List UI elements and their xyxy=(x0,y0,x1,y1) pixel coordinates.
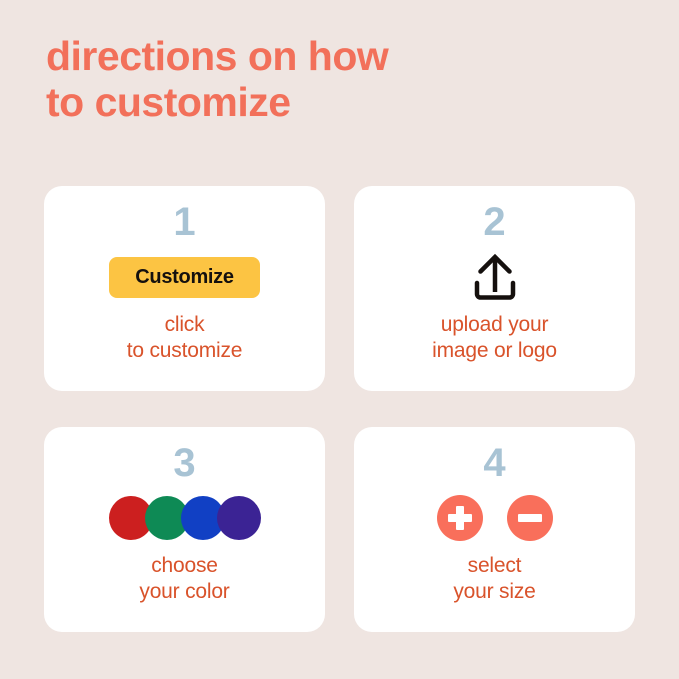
step-visual-1: Customize xyxy=(109,246,259,308)
step-number-2: 2 xyxy=(483,200,505,244)
minus-icon-bar xyxy=(518,514,542,522)
step-card-2: 2 upload your image or logo xyxy=(354,186,635,391)
plus-icon-bar-vertical xyxy=(456,506,464,530)
page-title-line-1: directions on how xyxy=(46,33,606,79)
step-caption-3-line-2: your color xyxy=(139,579,229,605)
step-caption-1-line-2: to customize xyxy=(127,338,242,364)
step-card-1: 1 Customize click to customize xyxy=(44,186,325,391)
step-caption-3-line-1: choose xyxy=(139,553,229,579)
step-card-4: 4 select your size xyxy=(354,427,635,632)
size-stepper-group xyxy=(437,495,553,541)
customize-button[interactable]: Customize xyxy=(109,257,259,298)
step-caption-4-line-2: your size xyxy=(453,579,535,605)
step-number-3: 3 xyxy=(173,441,195,485)
page-title: directions on how to customize xyxy=(46,33,606,125)
step-caption-3: choose your color xyxy=(139,553,229,605)
step-caption-2: upload your image or logo xyxy=(432,312,557,364)
page-title-line-2: to customize xyxy=(46,79,606,125)
color-swatch-group xyxy=(109,496,261,540)
color-swatch-purple[interactable] xyxy=(217,496,261,540)
step-caption-1-line-1: click xyxy=(127,312,242,338)
step-caption-4-line-1: select xyxy=(453,553,535,579)
step-caption-1: click to customize xyxy=(127,312,242,364)
steps-grid: 1 Customize click to customize 2 xyxy=(44,186,635,637)
step-number-1: 1 xyxy=(173,200,195,244)
step-caption-2-line-1: upload your xyxy=(432,312,557,338)
step-visual-4 xyxy=(437,487,553,549)
step-caption-2-line-2: image or logo xyxy=(432,338,557,364)
minus-icon-button[interactable] xyxy=(507,495,553,541)
step-card-3: 3 choose your color xyxy=(44,427,325,632)
step-caption-4: select your size xyxy=(453,553,535,605)
step-visual-3 xyxy=(109,487,261,549)
instructions-page: directions on how to customize 1 Customi… xyxy=(0,0,679,679)
upload-icon[interactable] xyxy=(469,252,521,302)
step-number-4: 4 xyxy=(483,441,505,485)
plus-icon-button[interactable] xyxy=(437,495,483,541)
step-visual-2 xyxy=(469,246,521,308)
